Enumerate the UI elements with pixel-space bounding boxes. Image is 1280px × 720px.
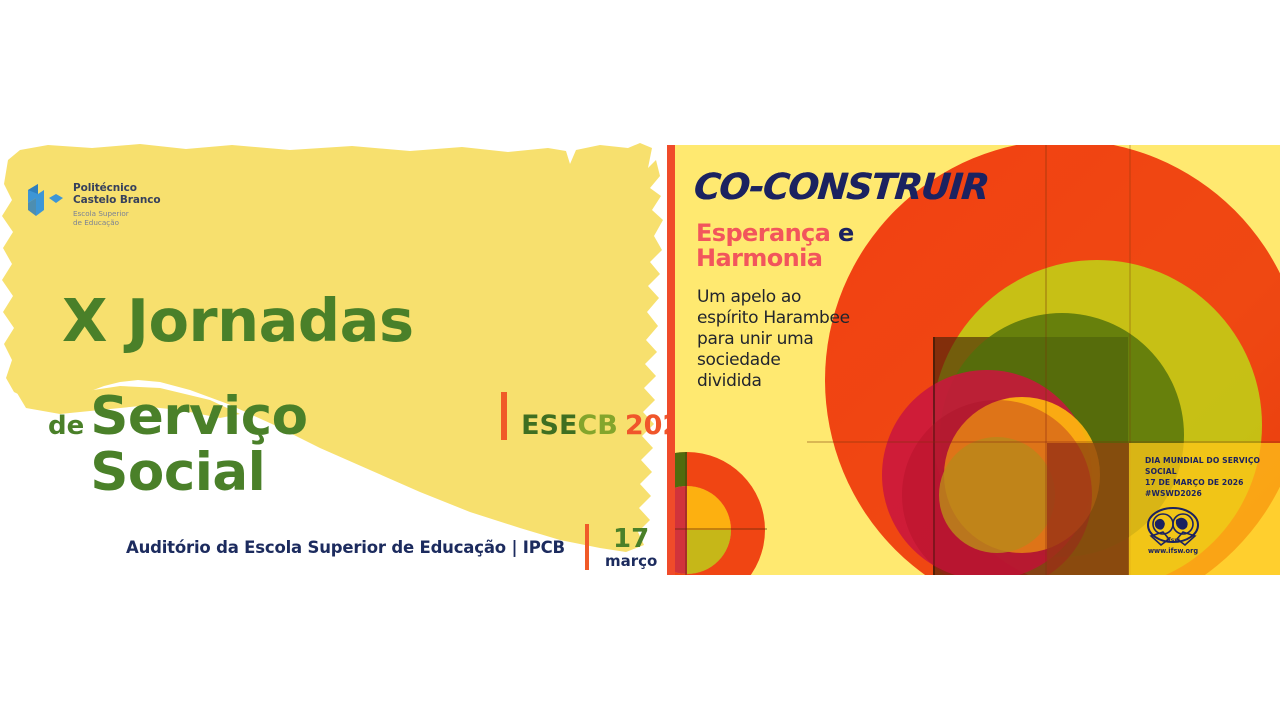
ifsw-wordmark: ifsw bbox=[1166, 537, 1180, 544]
poster-subtitle-conjunction: e bbox=[838, 219, 854, 247]
event-date: 17 março bbox=[605, 526, 657, 569]
title-divider-rule bbox=[501, 392, 507, 440]
page-title-line2: Serviço Social bbox=[90, 389, 485, 501]
poster-subtitle-word1: Esperança bbox=[696, 219, 830, 247]
ifsw-url: www.ifsw.org bbox=[1148, 547, 1198, 555]
left-panel: Politécnico Castelo Branco Escola Superi… bbox=[0, 0, 700, 720]
venue-text: Auditório da Escola Superior de Educação… bbox=[126, 538, 565, 557]
poster-body-text: Um apelo ao espírito Harambee para unir … bbox=[697, 287, 850, 392]
page-title-line1: X Jornadas bbox=[62, 290, 414, 352]
wswd-info-text: DIA MUNDIAL DO SERVIÇO SOCIAL 17 DE MARÇ… bbox=[1145, 455, 1280, 499]
footer-divider-rule bbox=[585, 524, 589, 570]
page-title-prefix: de bbox=[48, 411, 84, 441]
ifsw-globe-icon: ifsw www.ifsw.org bbox=[1145, 505, 1201, 555]
wswd-poster: CO-CONSTRUIR Esperança e Harmonia Um ape… bbox=[667, 145, 1280, 575]
event-day: 17 bbox=[605, 526, 657, 552]
torn-paper-shape bbox=[0, 0, 700, 720]
edition-cb: CB bbox=[577, 410, 617, 441]
edition-ese: ESE bbox=[521, 410, 577, 441]
ipcb-chevron-diamond-icon bbox=[22, 180, 64, 222]
logo-institution-name: Politécnico Castelo Branco bbox=[73, 182, 160, 206]
ipcb-logo: Politécnico Castelo Branco Escola Superi… bbox=[22, 180, 160, 227]
logo-school-name: Escola Superior de Educação bbox=[73, 209, 160, 227]
event-month: março bbox=[605, 554, 657, 569]
event-banner: Politécnico Castelo Branco Escola Superi… bbox=[0, 0, 1280, 720]
page-title-line2-row: de Serviço Social ESECB2026 bbox=[48, 386, 700, 501]
footer-row: Auditório da Escola Superior de Educação… bbox=[126, 524, 657, 570]
poster-subtitle: Esperança e Harmonia bbox=[696, 221, 854, 271]
poster-title: CO-CONSTRUIR bbox=[692, 167, 990, 208]
poster-subtitle-word2: Harmonia bbox=[696, 244, 822, 272]
